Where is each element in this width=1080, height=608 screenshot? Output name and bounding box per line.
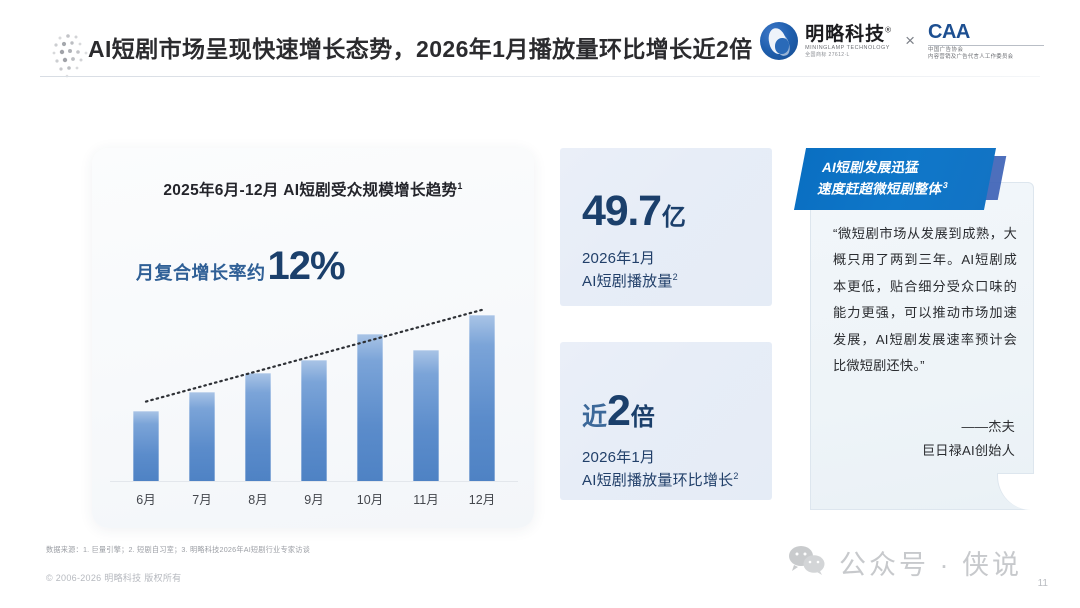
logo-mininglamp: 明略科技® MININGLAMP TECHNOLOGY 全国商标 27612·L [760,22,892,60]
stat-prefix: 近 [582,397,607,433]
chart-title: 2025年6月-12月 AI短剧受众规模增长趋势1 [92,178,534,200]
x-axis-label: 10月 [342,489,398,508]
banner-line-2-text: 速度赶超微短剧整体 [817,181,944,196]
x-axis-labels: 6月7月8月9月10月11月12月 [110,489,518,508]
quote-card-wrapper: “微短剧市场从发展到成熟，大概只用了两到三年。AI短剧成本更低，贴合细分受众口味… [800,148,1042,528]
chart-plot-area [110,282,518,482]
bar-9月 [301,360,327,482]
chart-card: 2025年6月-12月 AI短剧受众规模增长趋势1 月复合增长率约 12% 6月… [92,148,534,528]
x-axis-label: 9月 [286,489,342,508]
stat-metric: AI短剧播放量环比增长2 [582,469,739,490]
slide-content: 2025年6月-12月 AI短剧受众规模增长趋势1 月复合增长率约 12% 6月… [0,130,1080,530]
bar-series [110,297,518,482]
stat-metric-footnote: 2 [673,272,678,282]
bar-slot [118,297,174,482]
logo-mininglamp-name-en: MININGLAMP TECHNOLOGY [805,46,892,52]
quote-author-role: 巨日禄AI创始人 [922,439,1015,463]
x-axis-label: 11月 [398,489,454,508]
wechat-icon [787,544,827,581]
quote-author: ——杰夫 [922,415,1015,439]
slide-root: AI短剧市场呈现快速增长态势，2026年1月播放量环比增长近2倍 明略科技® M… [0,0,1080,608]
stat-metric-text: AI短剧播放量 [582,273,673,290]
chart-title-footnote: 1 [457,181,462,191]
header-logos: 明略科技® MININGLAMP TECHNOLOGY 全国商标 27612·L… [760,22,1044,60]
header-divider [40,76,1040,77]
stat-period: 2026年1月 [582,247,655,268]
quote-banner: AI短剧发展迅猛 速度赶超微短剧整体3 [794,148,996,210]
stat-value: 49.7 亿 [582,190,686,233]
stat-number: 2 [607,390,630,433]
copyright-note: © 2006-2026 明略科技 版权所有 [46,571,181,584]
bar-7月 [189,392,215,482]
bar-6月 [133,411,159,482]
bar-slot [454,297,510,482]
logo-mininglamp-name: 明略科技 [805,24,885,45]
x-axis-label: 6月 [118,489,174,508]
stat-unit: 亿 [662,197,686,232]
watermark: 公众号 · 侠说 [787,543,1022,582]
bar-11月 [413,350,439,482]
bar-slot [230,297,286,482]
bar-12月 [469,315,495,482]
stat-unit: 倍 [631,397,655,432]
registered-mark: ® [885,25,892,34]
bar-10月 [357,334,383,482]
logo-caa-line2: 内容营销及广告代言人工作委员会 [928,55,1044,61]
stat-number: 49.7 [582,190,661,233]
stat-metric-footnote: 2 [733,471,738,481]
x-axis-label: 7月 [174,489,230,508]
bar-slot [286,297,342,482]
mininglamp-globe-icon [760,22,798,60]
banner-line-2: 速度赶超微短剧整体3 [816,179,990,200]
stat-metric-text: AI短剧播放量环比增长 [582,472,733,489]
banner-footnote: 3 [942,180,949,190]
x-axis-label: 8月 [230,489,286,508]
quote-text: “微短剧市场从发展到成熟，大概只用了两到三年。AI短剧成本更低，贴合细分受众口味… [833,221,1017,379]
x-axis-line [110,481,518,482]
page-title: AI短剧市场呈现快速增长态势，2026年1月播放量环比增长近2倍 [88,30,753,64]
quote-attribution: ——杰夫 巨日禄AI创始人 [922,415,1015,464]
logo-caa-mark: CAA [928,22,1044,43]
quote-card: “微短剧市场从发展到成熟，大概只用了两到三年。AI短剧成本更低，贴合细分受众口味… [810,182,1034,510]
banner-line-1: AI短剧发展迅猛 [820,158,994,179]
watermark-text: 公众号 · 侠说 [839,543,1022,582]
x-axis-label: 12月 [454,489,510,508]
chart-title-text: 2025年6月-12月 AI短剧受众规模增长趋势 [163,182,457,199]
slide-header: AI短剧市场呈现快速增长态势，2026年1月播放量环比增长近2倍 明略科技® M… [0,0,1080,92]
stat-card-growth: 近 2 倍 2026年1月 AI短剧播放量环比增长2 [560,342,772,500]
bar-slot [398,297,454,482]
logo-caa-line1: 中国广告协会 [928,48,1044,54]
bar-slot [342,297,398,482]
stat-value: 近 2 倍 [582,390,655,433]
bar-slot [174,297,230,482]
logo-caa-divider [928,45,1044,46]
stat-period: 2026年1月 [582,446,655,467]
source-note: 数据来源：1. 巨量引擎；2. 短剧自习室；3. 明略科技2026年AI短剧行业… [46,545,310,555]
logo-mininglamp-sub: 全国商标 27612·L [805,53,892,58]
page-number: 11 [1038,578,1048,589]
logo-caa: CAA 中国广告协会 内容营销及广告代言人工作委员会 [928,22,1044,60]
logo-separator: × [905,31,915,51]
stat-metric: AI短剧播放量2 [582,270,678,291]
bar-8月 [245,373,271,482]
stat-card-plays: 49.7 亿 2026年1月 AI短剧播放量2 [560,148,772,306]
